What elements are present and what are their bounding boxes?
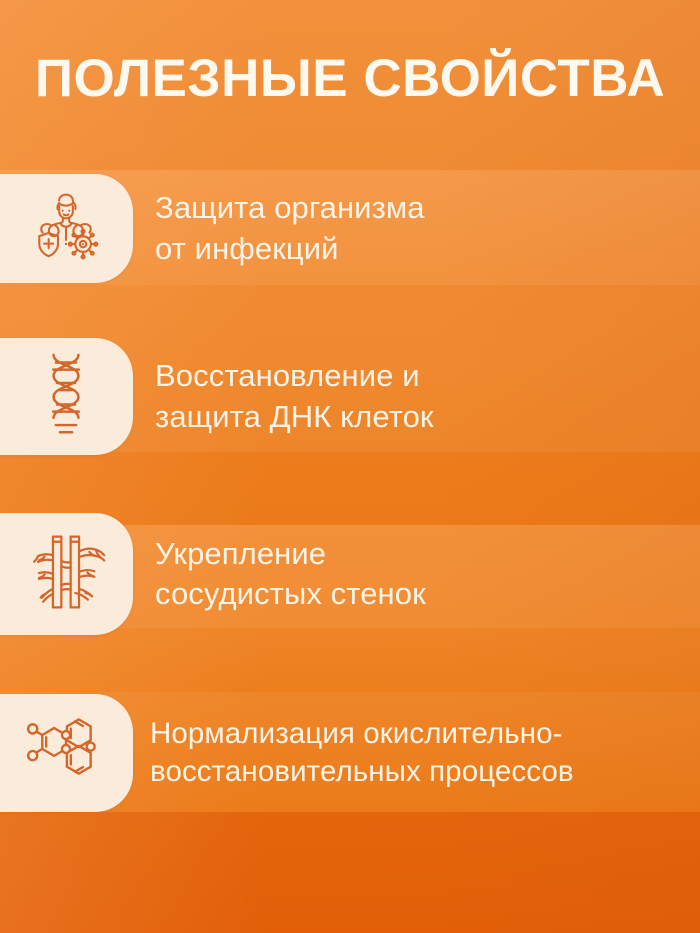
molecule-hexagons-icon <box>24 709 108 798</box>
benefit-label-line: от инфекций <box>155 229 684 269</box>
dna-helix-icon <box>35 351 97 442</box>
benefit-icon-plate <box>0 513 133 635</box>
benefit-label-line: восстановительных процессов <box>150 753 684 791</box>
benefit-row-vessels: Укрепление сосудистых стенок <box>0 513 700 635</box>
benefit-label-line: Восстановление и <box>155 356 684 396</box>
immunity-shield-virus-icon <box>27 187 105 270</box>
benefit-row-dna: Восстановление и защита ДНК клеток <box>0 338 700 455</box>
blood-vessel-icon <box>24 531 108 618</box>
benefit-row-redox: Нормализация окислительно- восстановител… <box>0 694 700 812</box>
benefit-row-immunity: Защита организма от инфекций <box>0 174 700 283</box>
benefit-label-redox: Нормализация окислительно- восстановител… <box>150 715 684 792</box>
benefit-label-line: защита ДНК клеток <box>155 397 684 437</box>
benefit-label-vessels: Укрепление сосудистых стенок <box>155 534 684 615</box>
benefit-label-immunity: Защита организма от инфекций <box>155 188 684 269</box>
benefit-icon-plate <box>0 174 133 283</box>
benefit-icon-plate <box>0 338 133 455</box>
benefit-label-line: Нормализация окислительно- <box>150 715 684 753</box>
benefit-label-line: Укрепление <box>155 534 684 574</box>
page-title: ПОЛЕЗНЫЕ СВОЙСТВА <box>0 52 700 105</box>
benefit-label-line: сосудистых стенок <box>155 574 684 614</box>
benefit-label-line: Защита организма <box>155 188 684 228</box>
benefits-poster: ПОЛЕЗНЫЕ СВОЙСТВА <box>0 0 700 933</box>
poster-content: ПОЛЕЗНЫЕ СВОЙСТВА <box>0 0 700 933</box>
benefit-label-dna: Восстановление и защита ДНК клеток <box>155 356 684 437</box>
benefit-icon-plate <box>0 694 133 812</box>
